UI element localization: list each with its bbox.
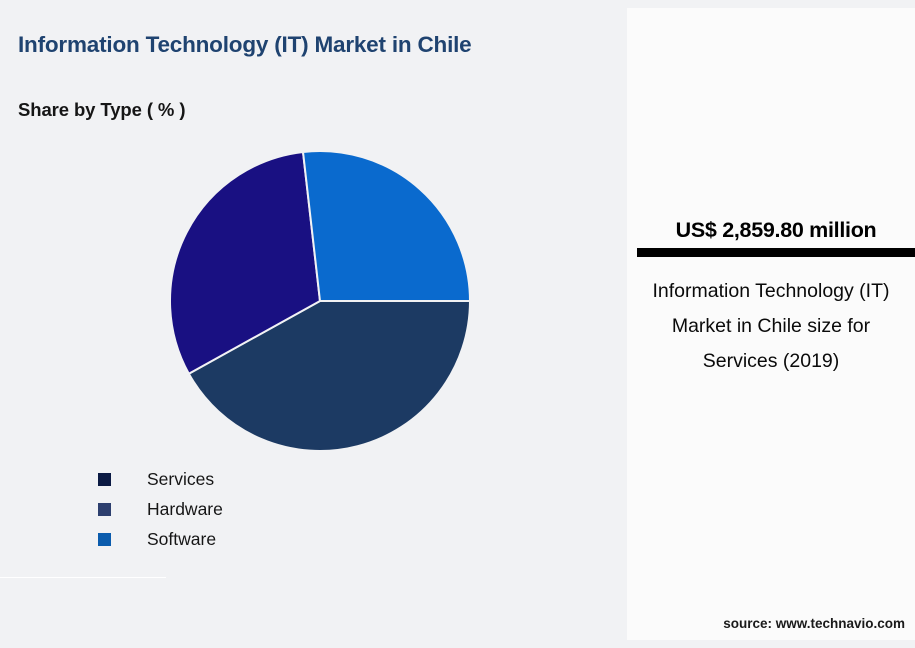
legend-label-hardware: Hardware	[147, 499, 223, 520]
legend-swatch-services	[98, 473, 111, 486]
kpi-underline	[637, 248, 915, 257]
chart-panel: Information Technology (IT) Market in Ch…	[0, 0, 627, 648]
legend-item-software[interactable]: Software	[98, 524, 418, 554]
legend-item-services[interactable]: Services	[98, 464, 418, 494]
pie-chart	[170, 151, 470, 451]
chart-subtitle: Share by Type ( % )	[18, 99, 185, 121]
page-title: Information Technology (IT) Market in Ch…	[18, 30, 488, 60]
legend-label-services: Services	[147, 469, 214, 490]
kpi-panel: US$ 2,859.80 million Information Technol…	[627, 8, 915, 640]
pie-chart-svg	[170, 151, 470, 451]
chart-legend: Services Hardware Software	[98, 464, 418, 554]
pie-slice-group	[170, 151, 470, 451]
kpi-value: US$ 2,859.80 million	[637, 218, 915, 243]
legend-item-hardware[interactable]: Hardware	[98, 494, 418, 524]
legend-swatch-software	[98, 533, 111, 546]
footer-divider	[0, 577, 166, 578]
legend-label-software: Software	[147, 529, 216, 550]
kpi-description: Information Technology (IT) Market in Ch…	[641, 274, 901, 379]
legend-swatch-hardware	[98, 503, 111, 516]
pie-slice-software[interactable]	[303, 151, 470, 301]
source-note: source: www.technavio.com	[627, 616, 905, 631]
chart-infographic: Information Technology (IT) Market in Ch…	[0, 0, 915, 648]
